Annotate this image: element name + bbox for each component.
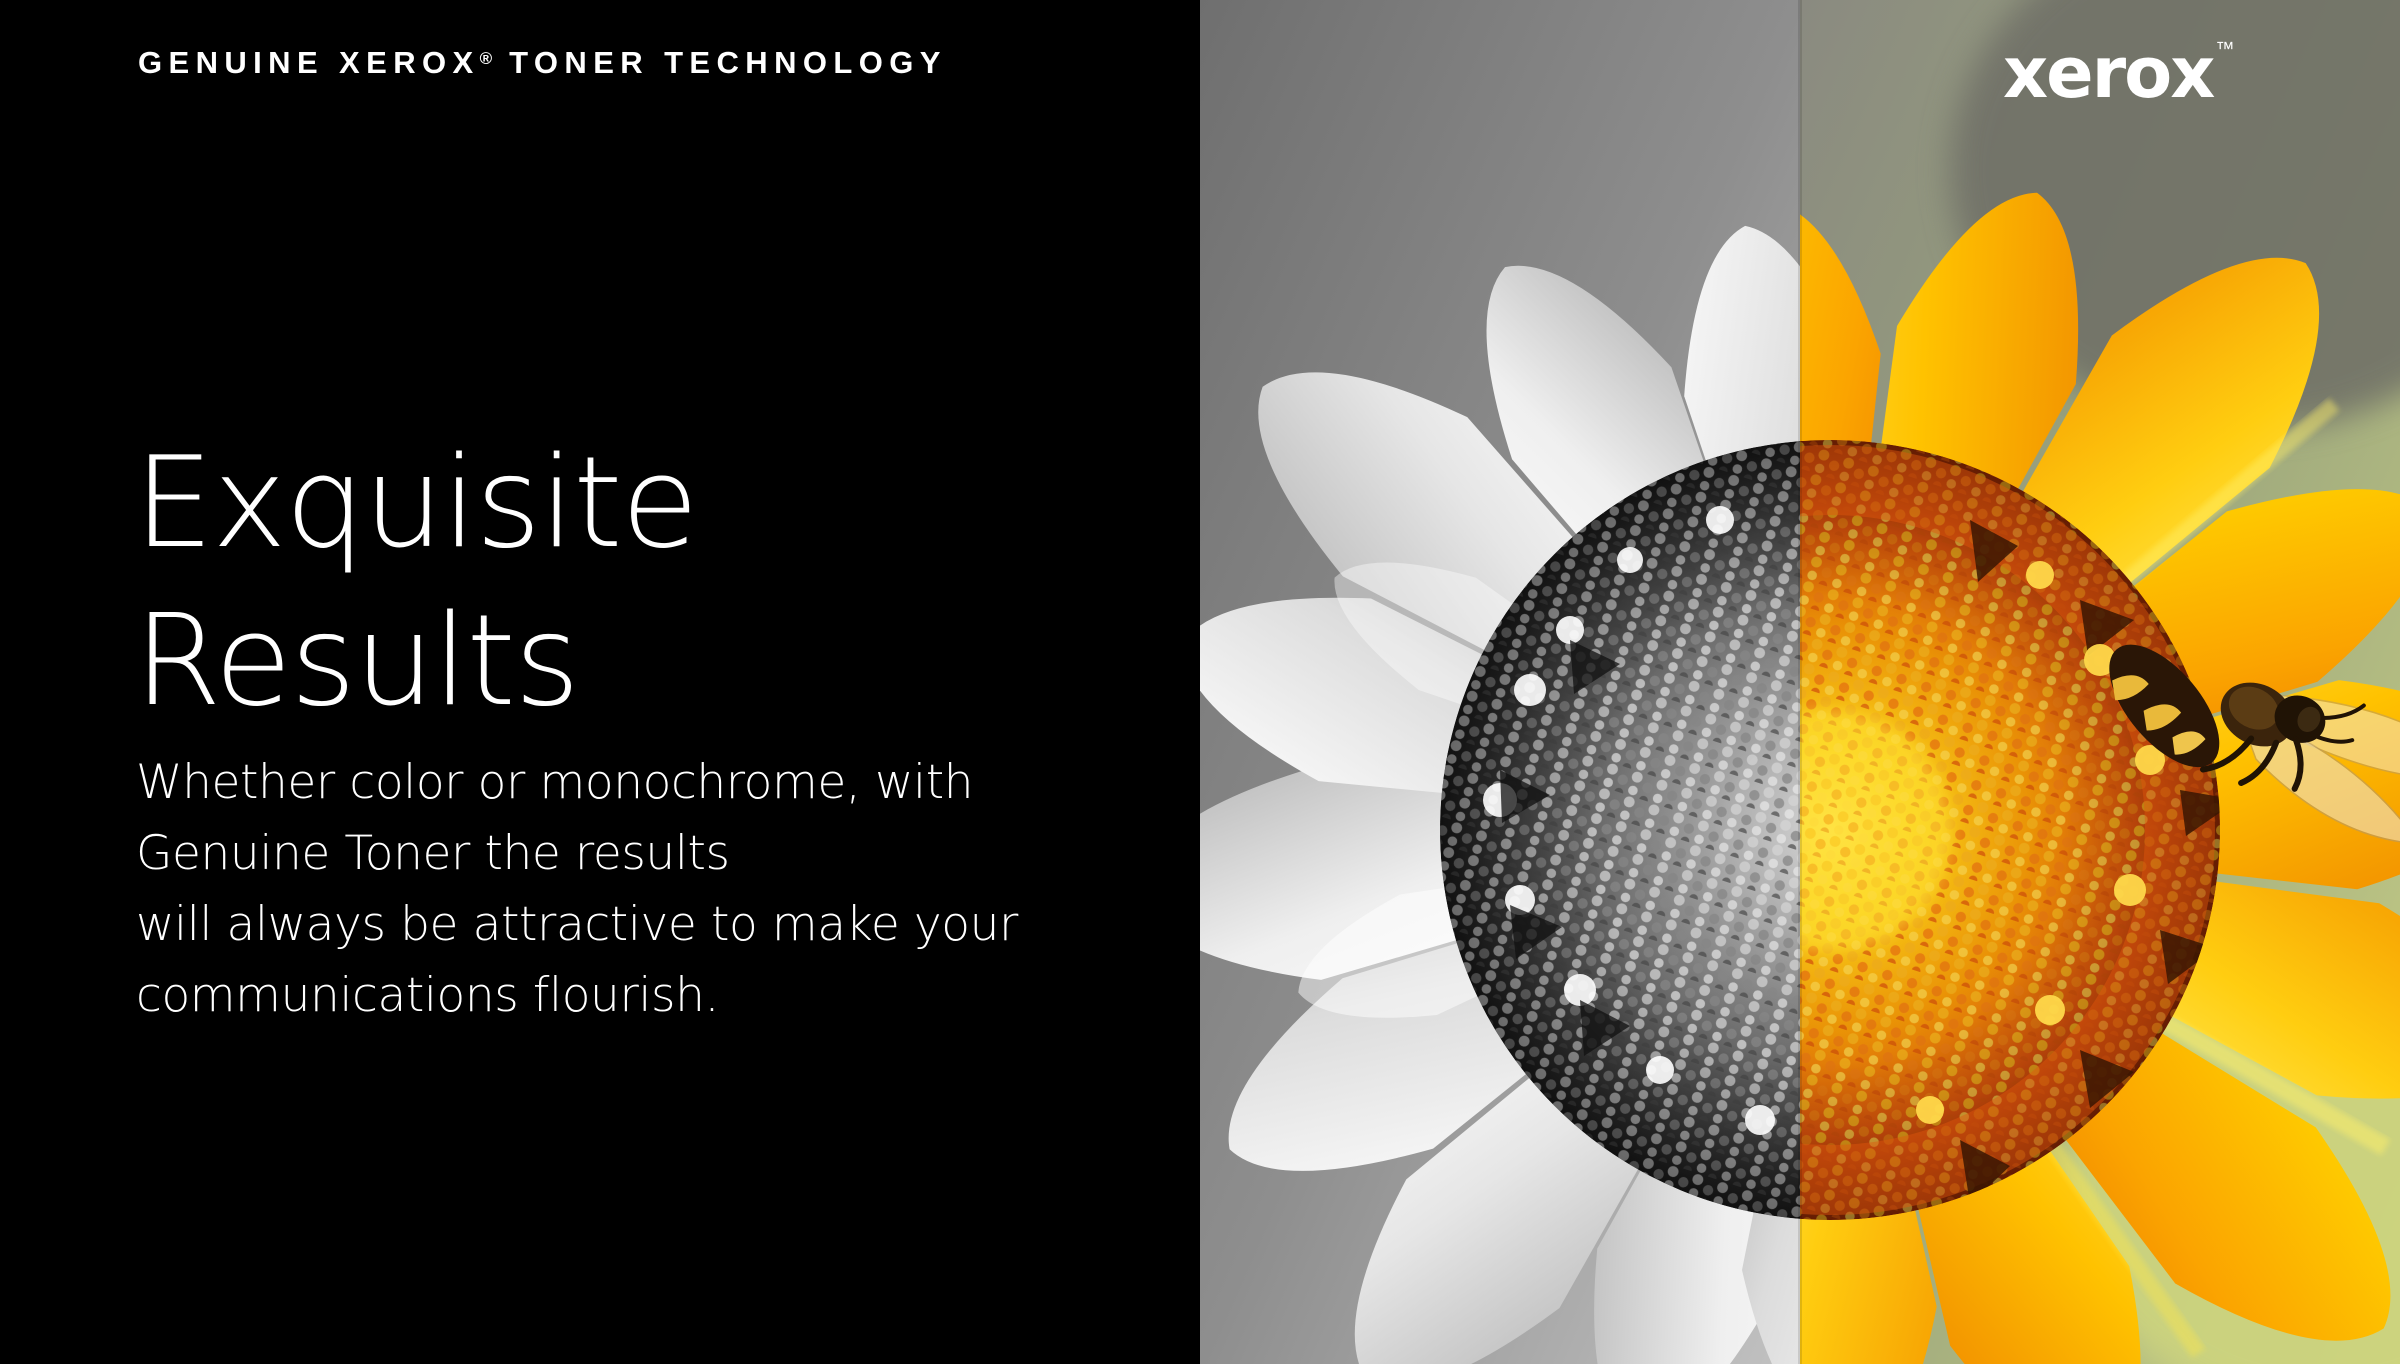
eyebrow-kicker: GENUINE XEROX® TONER TECHNOLOGY — [138, 44, 947, 81]
page-title: Exquisite Results — [134, 424, 697, 740]
registered-trademark-icon: ® — [480, 49, 495, 68]
xerox-logo[interactable]: xerox™ — [2003, 38, 2303, 122]
body-copy: Whether color or monochrome, with Genuin… — [136, 747, 1018, 1031]
xerox-wordmark: xerox — [2003, 38, 2213, 108]
xerox-toner-banner: GENUINE XEROX® TONER TECHNOLOGY Exquisit… — [0, 0, 2400, 1364]
eyebrow-text-after: TONER TECHNOLOGY — [494, 45, 947, 80]
eyebrow-text-before: GENUINE XEROX — [138, 45, 480, 80]
left-text-panel: GENUINE XEROX® TONER TECHNOLOGY Exquisit… — [0, 0, 1200, 1364]
sunflower-photo — [1200, 0, 2400, 1364]
trademark-icon: ™ — [2215, 39, 2234, 60]
sunflower-illustration — [1200, 0, 2400, 1364]
